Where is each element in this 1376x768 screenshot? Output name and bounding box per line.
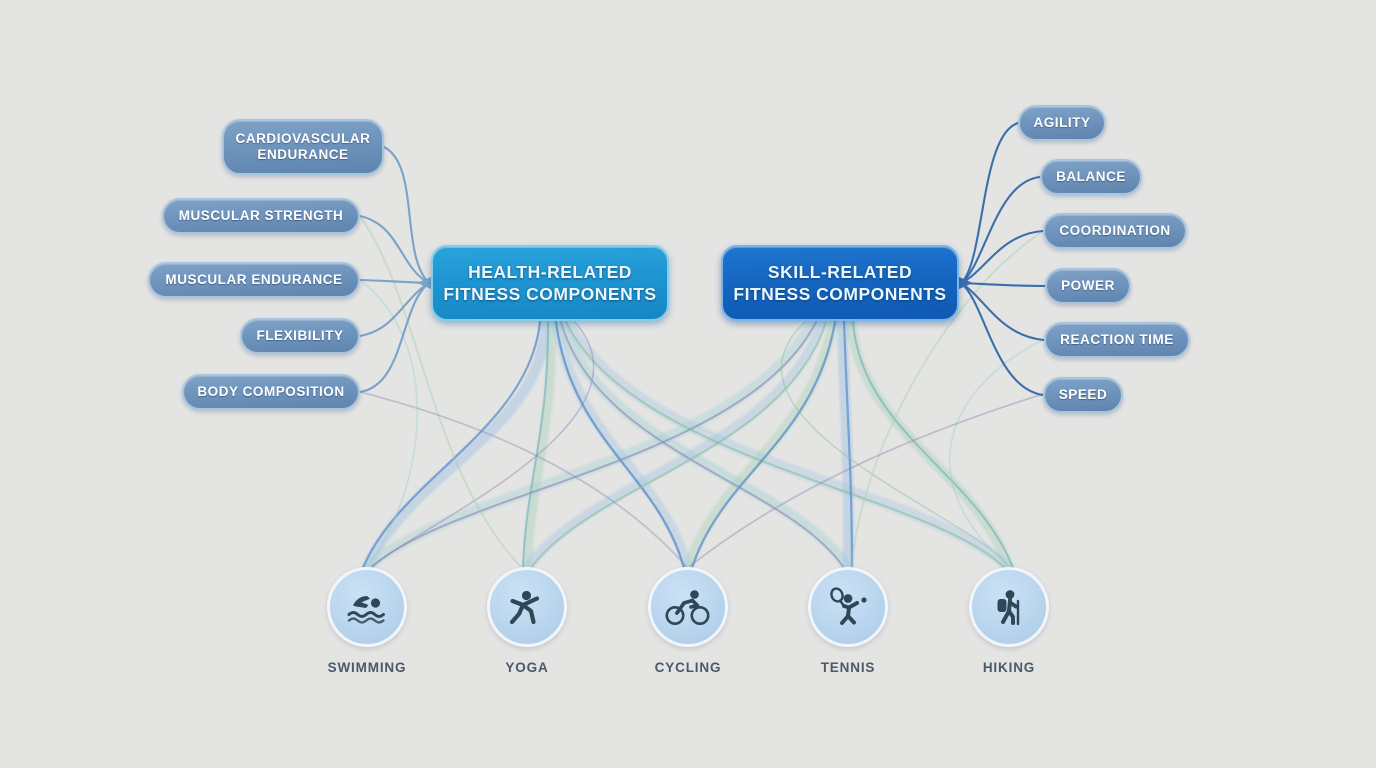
component-pill-label: SPEED bbox=[1059, 386, 1108, 403]
hiking-icon bbox=[986, 584, 1032, 630]
skill-branch-group bbox=[961, 123, 1045, 395]
activity-label: TENNIS bbox=[821, 660, 876, 675]
component-pill-speed[interactable]: SPEED bbox=[1043, 377, 1123, 413]
component-pill-label: MUSCULAR STRENGTH bbox=[179, 207, 344, 224]
activity-circle bbox=[808, 567, 888, 647]
component-pill-label: REACTION TIME bbox=[1060, 331, 1174, 348]
hub-label-line2: FITNESS COMPONENTS bbox=[443, 283, 656, 305]
hub-label-line1: HEALTH-RELATED bbox=[443, 261, 656, 283]
tennis-icon bbox=[824, 584, 872, 630]
diagram-canvas: CARDIOVASCULAR ENDURANCE MUSCULAR STRENG… bbox=[0, 0, 1376, 768]
component-pill-label: MUSCULAR ENDURANCE bbox=[165, 271, 342, 288]
component-pill-power[interactable]: POWER bbox=[1045, 268, 1131, 304]
component-pill-muscular-strength[interactable]: MUSCULAR STRENGTH bbox=[162, 198, 360, 234]
hub-skill-related-fitness-components[interactable]: SKILL-RELATED FITNESS COMPONENTS bbox=[721, 245, 959, 321]
activity-label: YOGA bbox=[505, 660, 548, 675]
activity-circle bbox=[327, 567, 407, 647]
component-pill-balance[interactable]: BALANCE bbox=[1040, 159, 1142, 195]
activity-hiking[interactable]: HIKING bbox=[969, 567, 1049, 675]
component-pill-coordination[interactable]: COORDINATION bbox=[1043, 213, 1187, 249]
component-pill-label: FLEXIBILITY bbox=[256, 327, 343, 344]
component-pill-label: BALANCE bbox=[1056, 168, 1126, 185]
hub-label-line2: FITNESS COMPONENTS bbox=[733, 283, 946, 305]
activity-label: HIKING bbox=[983, 660, 1035, 675]
activity-circle bbox=[487, 567, 567, 647]
activity-tennis[interactable]: TENNIS bbox=[808, 567, 888, 675]
component-pill-flexibility[interactable]: FLEXIBILITY bbox=[240, 318, 360, 354]
component-pill-label: AGILITY bbox=[1033, 114, 1090, 131]
ribbon-group bbox=[367, 322, 1009, 568]
activity-cycling[interactable]: CYCLING bbox=[648, 567, 728, 675]
component-pill-label: CARDIOVASCULAR ENDURANCE bbox=[236, 131, 371, 164]
component-pill-agility[interactable]: AGILITY bbox=[1018, 105, 1106, 141]
yoga-icon bbox=[504, 584, 550, 630]
component-pill-cardiovascular-endurance[interactable]: CARDIOVASCULAR ENDURANCE bbox=[222, 119, 384, 175]
activity-label: SWIMMING bbox=[328, 660, 407, 675]
hub-health-related-fitness-components[interactable]: HEALTH-RELATED FITNESS COMPONENTS bbox=[431, 245, 669, 321]
activity-label: CYCLING bbox=[655, 660, 722, 675]
hub-label: HEALTH-RELATED FITNESS COMPONENTS bbox=[443, 261, 656, 305]
component-pill-label: POWER bbox=[1061, 277, 1115, 294]
activity-circle bbox=[648, 567, 728, 647]
component-pill-label: BODY COMPOSITION bbox=[197, 383, 344, 400]
hub-label-line1: SKILL-RELATED bbox=[733, 261, 946, 283]
activity-circle bbox=[969, 567, 1049, 647]
component-pill-label: COORDINATION bbox=[1059, 222, 1170, 239]
activity-yoga[interactable]: YOGA bbox=[487, 567, 567, 675]
swimming-icon bbox=[344, 584, 390, 630]
cycling-icon bbox=[664, 584, 712, 630]
component-pill-reaction-time[interactable]: REACTION TIME bbox=[1044, 322, 1190, 358]
activity-swimming[interactable]: SWIMMING bbox=[327, 567, 407, 675]
component-pill-muscular-endurance[interactable]: MUSCULAR ENDURANCE bbox=[148, 262, 360, 298]
hub-label: SKILL-RELATED FITNESS COMPONENTS bbox=[733, 261, 946, 305]
component-pill-body-composition[interactable]: BODY COMPOSITION bbox=[182, 374, 360, 410]
